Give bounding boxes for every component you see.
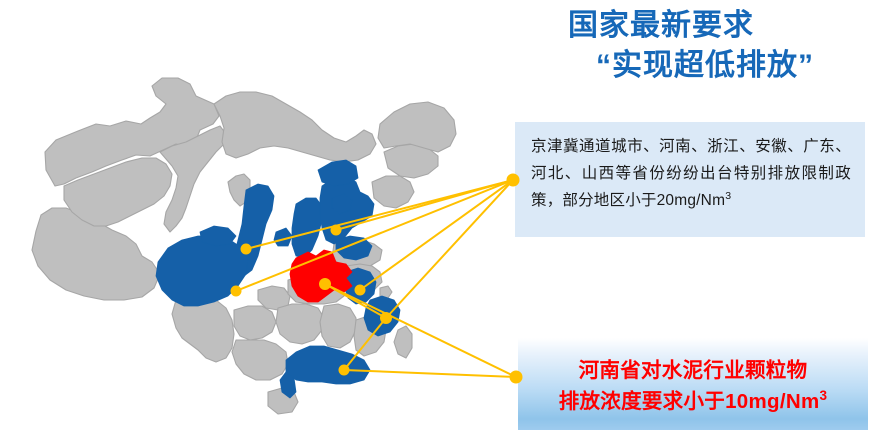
highlight-line-1: 河南省对水泥行业颗粒物: [579, 356, 808, 385]
highlight-callout-box: 河南省对水泥行业颗粒物 排放浓度要求小于10mg/Nm3: [518, 338, 868, 430]
province-hunan: [276, 304, 324, 344]
province-sichuan-highlight: [156, 236, 248, 306]
highlight-line-2: 排放浓度要求小于10mg/Nm3: [559, 386, 828, 416]
province-zhejiang-highlight: [364, 296, 400, 336]
page-title-line-1: 国家最新要求: [500, 6, 870, 46]
policy-text-superscript: 3: [725, 190, 731, 202]
province-taiwan: [394, 326, 412, 358]
page-title-line-2: “实现超低排放”: [500, 46, 870, 86]
province-guangxi: [232, 340, 288, 380]
title-block: 国家最新要求 “实现超低排放”: [500, 6, 870, 86]
highlight-line-2-main: 排放浓度要求小于10mg/Nm: [559, 389, 820, 412]
policy-text-box: 京津冀通道城市、河南、浙江、安徽、广东、河北、山西等省份纷纷出台特别排放限制政策…: [515, 122, 865, 237]
province-jiangxi: [320, 304, 356, 348]
policy-text-main: 京津冀通道城市、河南、浙江、安徽、广东、河北、山西等省份纷纷出台特别排放限制政策…: [531, 138, 851, 209]
province-heilongjiang: [378, 102, 456, 152]
province-shanxi-highlight: [292, 198, 322, 258]
province-yunnan: [172, 296, 234, 362]
policy-text: 京津冀通道城市、河南、浙江、安徽、广东、河北、山西等省份纷纷出台特别排放限制政策…: [531, 134, 851, 215]
province-sichuan-north-lobe: [200, 226, 236, 246]
china-map-panel: [0, 0, 520, 444]
slide-root: 国家最新要求 “实现超低排放” 京津冀通道城市、河南、浙江、安徽、广东、河北、山…: [0, 0, 870, 444]
province-guizhou: [234, 306, 276, 340]
province-inner-mongolia: [214, 92, 376, 162]
china-map-svg: [0, 0, 520, 444]
province-small-highlight-nub: [274, 228, 292, 246]
highlight-line-2-superscript: 3: [819, 388, 827, 403]
province-liaoning: [372, 176, 414, 208]
